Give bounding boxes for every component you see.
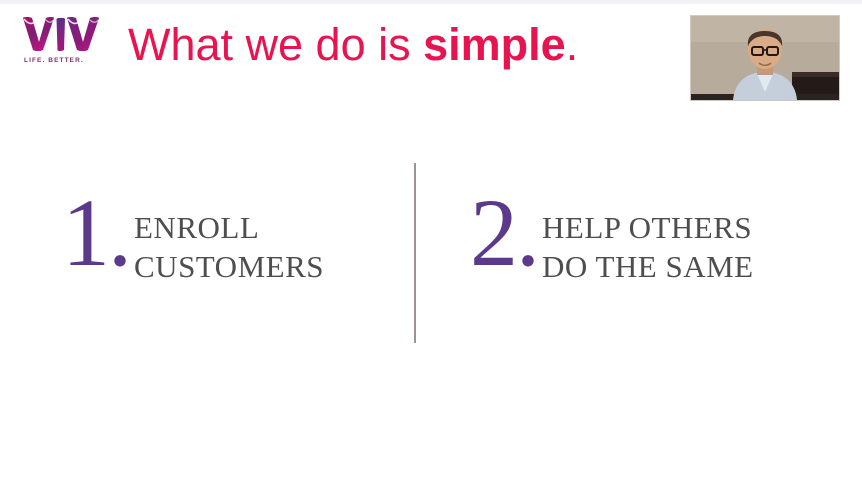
step-1-number: 1. [62,190,130,276]
viv-logo-mark [22,16,100,52]
viv-logo: LIFE. BETTER. [18,16,110,74]
step-2-number: 2. [470,190,538,276]
slide-title-suffix: . [566,19,579,70]
step-2-label-line1: HELP OTHERS [542,210,752,245]
slide-title-emphasis: simple [423,19,566,70]
logo-tagline: LIFE. BETTER. [24,57,110,64]
slide-title: What we do is simple. [128,18,578,72]
step-item-1: 1. ENROLL CUSTOMERS [62,198,324,286]
steps-divider [414,163,416,343]
presenter-video-thumbnail[interactable] [690,15,840,101]
steps-container: 1. ENROLL CUSTOMERS 2. HELP OTHERS DO TH… [0,150,862,360]
step-1-label: ENROLL CUSTOMERS [134,198,324,286]
step-2-label: HELP OTHERS DO THE SAME [542,198,754,286]
player-top-edge [0,0,862,4]
slide-title-prefix: What we do is [128,19,423,70]
step-1-label-line1: ENROLL [134,210,259,245]
step-item-2: 2. HELP OTHERS DO THE SAME [470,198,754,286]
step-2-label-line2: DO THE SAME [542,247,754,286]
presentation-slide: LIFE. BETTER. What we do is simple. [0,0,862,485]
step-1-label-line2: CUSTOMERS [134,247,324,286]
presenter-video-image [691,16,839,100]
